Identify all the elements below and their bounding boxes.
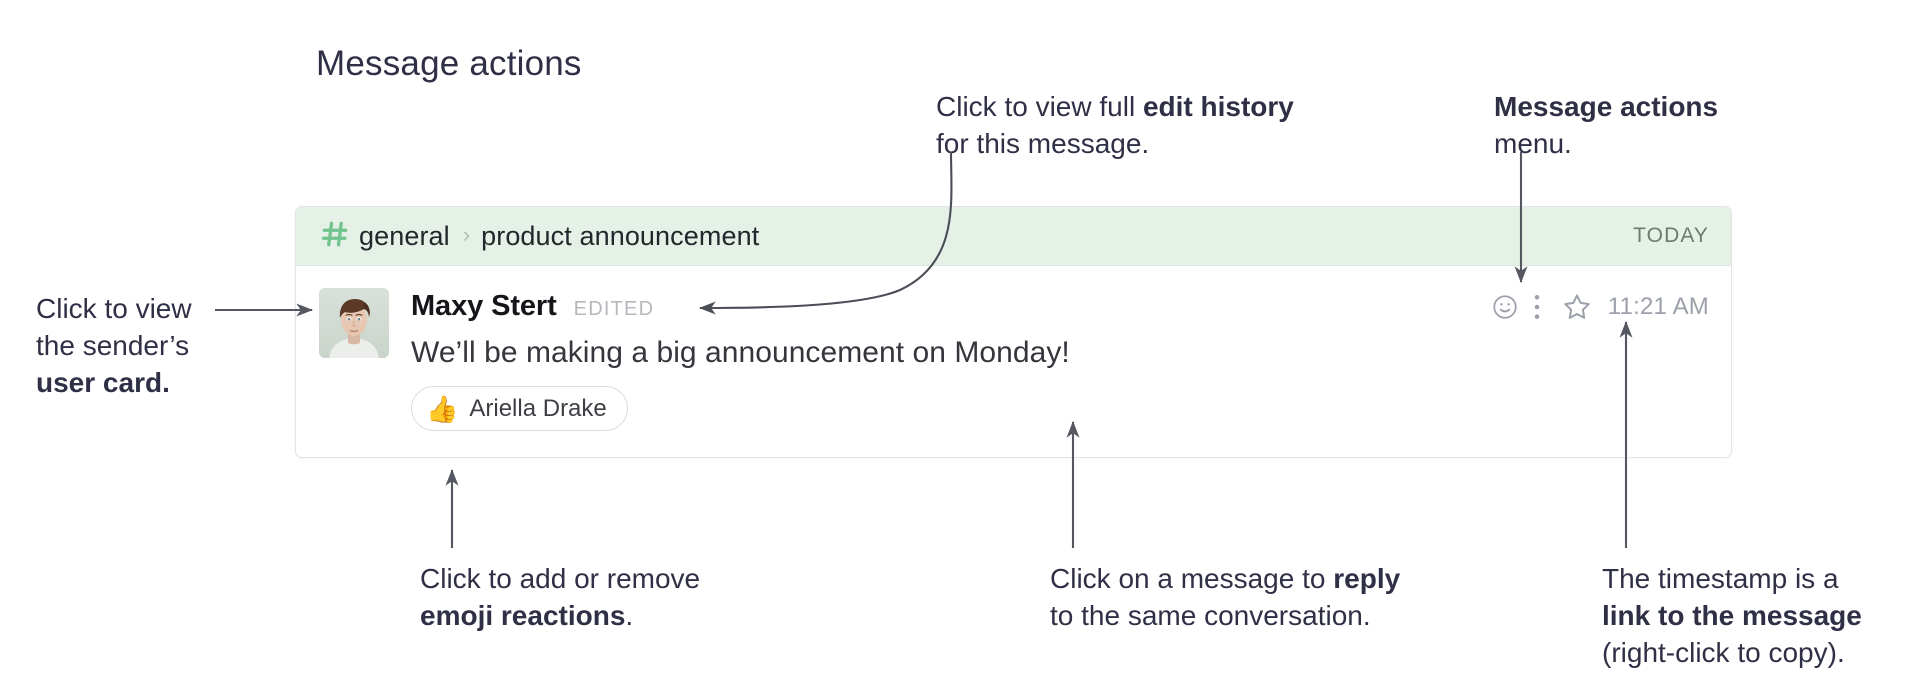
- reaction-user-label: Ariella Drake: [469, 395, 606, 423]
- message-card[interactable]: general › product announcement TODAY: [295, 206, 1732, 458]
- annotation-reply: Click on a message to reply to the same …: [1050, 560, 1400, 634]
- annotation-line: for this message.: [936, 125, 1294, 162]
- star-icon[interactable]: [1558, 290, 1596, 324]
- annotation-line: Click on a message to reply: [1050, 560, 1400, 597]
- message-text[interactable]: We’ll be making a big announcement on Mo…: [411, 336, 1709, 370]
- annotation-emphasis: user card.: [36, 367, 170, 398]
- edited-badge[interactable]: EDITED: [574, 298, 655, 321]
- hash-icon: [320, 219, 350, 254]
- annotation-emphasis: link to the message: [1602, 600, 1862, 631]
- message-timestamp-link[interactable]: 11:21 AM: [1608, 293, 1709, 321]
- page-title: Message actions: [316, 44, 582, 84]
- annotation-line: (right-click to copy).: [1602, 634, 1862, 671]
- chevron-right-icon: ›: [463, 224, 470, 246]
- annotation-emphasis: Message actions: [1494, 91, 1718, 122]
- annotation-user-card: Click to view the sender’s user card.: [36, 290, 192, 401]
- smiley-icon[interactable]: [1488, 290, 1522, 324]
- annotation-emphasis: edit history: [1143, 91, 1294, 122]
- annotation-line: Click to view: [36, 290, 192, 327]
- breadcrumb-topic[interactable]: product announcement: [481, 221, 759, 252]
- annotation-line: Click to add or remove: [420, 560, 700, 597]
- annotation-line: user card.: [36, 364, 192, 401]
- annotation-line: the sender’s: [36, 327, 192, 364]
- annotation-line: emoji reactions.: [420, 597, 700, 634]
- annotation-text: Click to view full: [936, 91, 1143, 122]
- annotation-emphasis: emoji reactions: [420, 600, 625, 631]
- annotation-line: link to the message: [1602, 597, 1862, 634]
- annotation-emphasis: reply: [1333, 563, 1400, 594]
- annotation-text: Click on a message to: [1050, 563, 1333, 594]
- annotation-actions-menu: Message actions menu.: [1494, 88, 1718, 162]
- card-body: Maxy Stert EDITED We’ll be making a big …: [296, 266, 1731, 431]
- annotation-line: menu.: [1494, 125, 1718, 162]
- avatar[interactable]: [319, 288, 389, 358]
- annotation-edit-history: Click to view full edit history for this…: [936, 88, 1294, 162]
- thumbs-up-icon: 👍: [426, 396, 458, 422]
- annotation-timestamp: The timestamp is a link to the message (…: [1602, 560, 1862, 671]
- annotation-line: Message actions: [1494, 88, 1718, 125]
- vertical-dots-icon[interactable]: [1522, 290, 1552, 324]
- reaction-pill[interactable]: 👍 Ariella Drake: [411, 386, 628, 431]
- annotation-text: .: [625, 600, 633, 631]
- avatar-photo: [319, 288, 389, 358]
- date-label: TODAY: [1633, 224, 1709, 248]
- sender-name[interactable]: Maxy Stert: [411, 290, 557, 323]
- message-actions: 11:21 AM: [1488, 290, 1709, 324]
- breadcrumb-channel[interactable]: general: [359, 221, 450, 252]
- annotation-emoji-reactions: Click to add or remove emoji reactions.: [420, 560, 700, 634]
- annotation-line: to the same conversation.: [1050, 597, 1400, 634]
- annotation-line: The timestamp is a: [1602, 560, 1862, 597]
- card-header: general › product announcement TODAY: [296, 207, 1731, 266]
- annotation-line: Click to view full edit history: [936, 88, 1294, 125]
- reaction-row: 👍 Ariella Drake: [411, 386, 1709, 431]
